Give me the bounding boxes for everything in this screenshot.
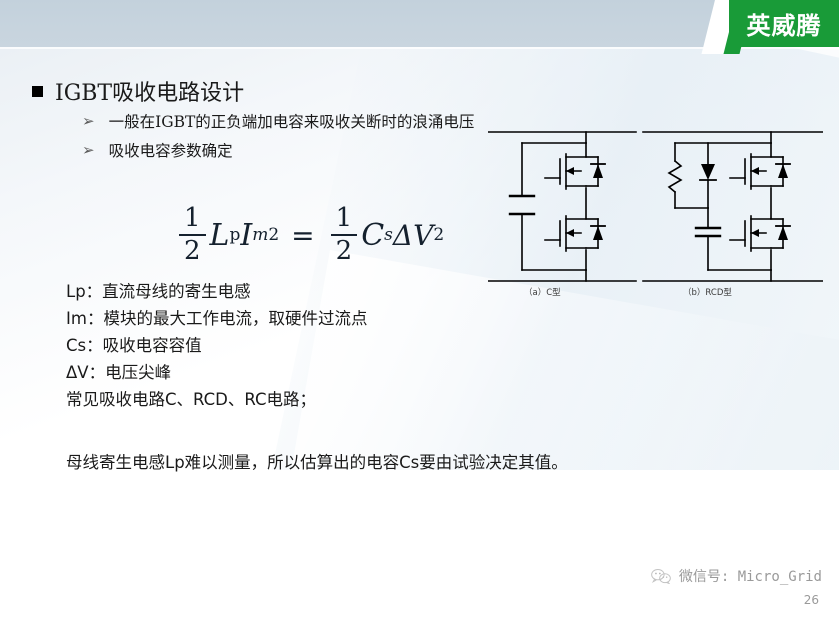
wechat-watermark: 微信号: Micro_Grid (650, 566, 822, 586)
bullet-item-2-text: 吸收电容参数确定 (109, 139, 233, 161)
slide: 英威腾 IGBT吸收电路设计 ➢ 一般在IGBT的正负端加电容来吸收关断时的浪涌… (0, 0, 839, 624)
fraction-numerator: 1 (179, 205, 206, 232)
page-number: 26 (804, 593, 819, 607)
fraction-denominator: 2 (331, 238, 358, 265)
fraction-numerator: 1 (331, 205, 358, 232)
page-title: IGBT吸收电路设计 (32, 75, 244, 107)
definition-im: Im：模块的最大工作电流，取硬件过流点 (66, 305, 367, 332)
bullet-item-1: ➢ 一般在IGBT的正负端加电容来吸收关断时的浪涌电压 (82, 110, 474, 132)
fraction-denominator: 2 (179, 238, 206, 265)
igbt-upper-rcd (730, 154, 790, 189)
formula-equals-sign: = (291, 219, 314, 252)
energy-balance-formula: 1 2 Lp Im2 = 1 2 Cs ΔV2 (175, 205, 444, 266)
formula-subscript-s: s (384, 225, 393, 245)
formula-delta-v: ΔV (393, 219, 433, 252)
brand-logo-text: 英威腾 (747, 6, 822, 41)
caption-rcd-type: （b）RCD型 (683, 286, 732, 298)
igbt-upper-c (545, 154, 605, 189)
arrow-bullet-icon: ➢ (82, 114, 95, 129)
formula-variable-I: I (240, 218, 252, 253)
definition-list: Lp：直流母线的寄生电感 Im：模块的最大工作电流，取硬件过流点 Cs：吸收电容… (66, 278, 367, 413)
definition-lp: Lp：直流母线的寄生电感 (66, 278, 367, 305)
definition-cs: Cs：吸收电容容值 (66, 332, 367, 359)
circuit-rcd-type (643, 132, 823, 281)
formula-variable-C: C (361, 218, 384, 253)
wechat-watermark-text: 微信号: Micro_Grid (679, 566, 822, 586)
caption-c-type: （a）C型 (524, 286, 561, 298)
formula-variable-L: L (210, 218, 230, 253)
formula-exponent-left: 2 (268, 225, 279, 245)
background-bottom-white (0, 470, 839, 624)
brand-logo: 英威腾 (729, 0, 839, 47)
definition-delta-v: ΔV：电压尖峰 (66, 359, 367, 386)
bullet-item-2: ➢ 吸收电容参数确定 (82, 139, 233, 161)
formula-subscript-p: p (229, 225, 240, 245)
page-title-text: IGBT吸收电路设计 (55, 75, 244, 107)
formula-exponent-right: 2 (433, 225, 444, 245)
wechat-icon (650, 568, 672, 584)
closing-paragraph: 母线寄生电感Lp难以测量，所以估算出的电容Cs要由试验决定其值。 (66, 449, 568, 473)
circuit-diagrams (488, 126, 823, 311)
bullet-item-1-text: 一般在IGBT的正负端加电容来吸收关断时的浪涌电压 (109, 110, 475, 132)
igbt-lower-c (545, 216, 605, 251)
circuit-svg (488, 126, 823, 311)
circuit-c-type (488, 132, 636, 281)
square-bullet-icon (32, 86, 43, 97)
igbt-lower-rcd (730, 216, 790, 251)
fraction-one-half-right: 1 2 (331, 205, 358, 266)
arrow-bullet-icon: ➢ (82, 143, 95, 158)
definition-common-circuits: 常见吸收电路C、RCD、RC电路； (66, 386, 367, 413)
fraction-one-half-left: 1 2 (179, 205, 206, 266)
formula-subscript-m: m (252, 225, 268, 245)
